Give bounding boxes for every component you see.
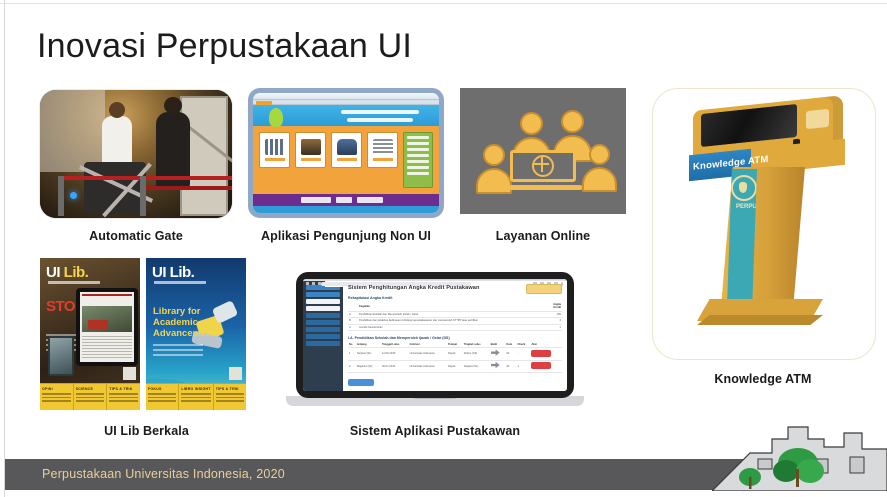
person-head	[589, 144, 610, 165]
cell-jenjang: Sarjana (S1)	[356, 348, 381, 360]
footer-text: Perpustakaan Universitas Indonesia, 2020	[42, 467, 285, 481]
sidebar-item-dashboard[interactable]	[306, 292, 340, 297]
cell-tanggal: 20-07-2014	[381, 360, 409, 372]
magazine-cover-right: UI Lib. Library for Academic Advancement…	[146, 258, 246, 410]
app-tile-document[interactable]	[367, 132, 398, 168]
gate-rope-post-mid	[140, 176, 146, 216]
figure-knowledge-atm: Knowledge ATM PERPUSTAKAAN	[652, 88, 876, 360]
app-tile-person[interactable]	[295, 132, 326, 168]
magazine-edition-right	[154, 281, 206, 284]
app-content: Sistem Penghitungan Angka Kredit Pustaka…	[343, 281, 567, 391]
cell-kum: 60	[505, 348, 516, 360]
app-section2-title: I.A. Pendidikan Sekolah dan Memperoleh I…	[348, 336, 562, 340]
sidebar-item-active-sub[interactable]	[306, 306, 340, 311]
laptop-display: Sistem Penghitungan Angka Kredit Pustaka…	[303, 279, 567, 391]
app-window: Sistem Penghitungan Angka Kredit Pustaka…	[303, 281, 567, 391]
figure-sistem-aplikasi-pustakawan: Sistem Penghitungan Angka Kredit Pustaka…	[286, 272, 584, 412]
rekap-table: Kegiatan Angka Kredit A Pendidikan Sekol…	[348, 302, 562, 331]
sidebar-item-pelatihan[interactable]	[306, 320, 340, 325]
cell-institusi: Universitas Indonesia	[409, 348, 447, 360]
gate-queue-rope	[60, 176, 232, 180]
person-head	[561, 110, 584, 133]
caption-automatic-gate: Automatic Gate	[40, 229, 232, 243]
slide-frame-left-edge	[4, 0, 5, 497]
cell-institusi: Universitas Indonesia	[409, 360, 447, 372]
slide-frame-top-edge	[0, 3, 887, 4]
cell-tanggal: 12-06-2010	[381, 348, 409, 360]
app-button-secondary[interactable]	[336, 197, 352, 203]
tablet-screen	[253, 93, 439, 213]
globe-icon	[532, 155, 554, 177]
laptop-base	[504, 185, 582, 190]
magazine-band-right: FOKUS LIBRO INSIGHT TIPS & TRIK	[146, 383, 246, 410]
cell-tempat: Depok	[447, 360, 463, 372]
app-header-title-line2	[347, 118, 413, 122]
figure-aplikasi-pengunjung	[248, 88, 444, 218]
skyline-decoration	[712, 419, 887, 491]
magazine-band-item: OPINI	[40, 384, 74, 410]
sidebar-item-pengelolaan[interactable]	[306, 327, 340, 332]
app-button-primary[interactable]	[301, 197, 331, 203]
app-info-panel	[403, 132, 433, 188]
caption-ui-lib-berkala: UI Lib Berkala	[40, 424, 253, 438]
sidebar-item-pelayanan[interactable]	[306, 334, 340, 339]
cell-tingkat: Sarjana (S1)	[463, 360, 490, 372]
attachment-icon[interactable]	[491, 362, 500, 370]
page-title: Inovasi Perpustakaan UI	[37, 26, 412, 66]
magazine-logo-badge-left	[123, 367, 136, 380]
cell-no: 2	[348, 360, 356, 372]
pendidikan-table: No Jenjang Tanggal Lulus Institusi Tempa…	[348, 342, 562, 373]
magazine-headline-right: Library for Academic Advancements	[153, 306, 246, 339]
gate-card-reader-light	[70, 192, 77, 199]
app-tile-vehicle[interactable]	[331, 132, 362, 168]
app-body	[253, 126, 439, 194]
cell-aksi	[530, 348, 562, 360]
magazine-band-item: TIPS & TRIK	[107, 384, 140, 410]
magazine-band-left: OPINI SCIENCE TIPS & TRIK	[40, 383, 140, 410]
caption-knowledge-atm: Knowledge ATM	[652, 372, 874, 386]
rekap-cell-kegiatan: Jumlah Keseluruhan	[358, 324, 544, 330]
cell-kum: 40	[505, 360, 516, 372]
app-sidebar	[303, 281, 343, 391]
magazine-logo-badge-right	[229, 367, 242, 380]
rekap-cell-angka: 1	[544, 324, 562, 330]
magazine-band-item: FOKUS	[146, 384, 179, 410]
delete-button[interactable]	[531, 350, 551, 357]
caption-aplikasi-pengunjung: Aplikasi Pengunjung Non UI	[238, 229, 454, 243]
laptop-screen	[510, 150, 576, 182]
add-data-button[interactable]	[348, 379, 374, 386]
magazine-band-item: LIBRO INSIGHT	[179, 384, 213, 410]
app-user-button[interactable]	[526, 284, 562, 294]
rekap-header-angka: Angka Kredit	[544, 302, 562, 311]
person-icon-right	[582, 144, 617, 192]
table-row: 2 Magister (S2) 20-07-2014 Universitas I…	[348, 360, 562, 372]
magazine-deck-right	[153, 344, 203, 359]
library-logo-icon	[731, 175, 757, 201]
window-controls-icon	[306, 282, 322, 285]
app-header-title-line1	[341, 110, 419, 114]
magazine-phone-photo	[48, 336, 74, 376]
app-menu-tiles	[259, 132, 398, 188]
kiosk-base-bottom	[697, 315, 823, 325]
kiosk-teal-strip: PERPUSTAKAAN	[727, 169, 757, 307]
app-tile-books[interactable]	[259, 132, 290, 168]
cell-tingkat: Doktor (S3)	[463, 348, 490, 360]
laptop-icon	[510, 150, 576, 190]
cell-tempat: Depok	[447, 348, 463, 360]
app-section1-title: Rekapitulasi Angka Kredit	[348, 296, 562, 300]
person-body	[476, 168, 512, 194]
magazine-brand-left: UI Lib.	[46, 264, 88, 281]
cell-bukti	[490, 348, 506, 360]
figure-layanan-online	[460, 88, 626, 214]
caption-sistem-aplikasi-pustakawan: Sistem Aplikasi Pustakawan	[286, 424, 584, 438]
app-logo-icon	[269, 108, 283, 127]
magazine-tablet-photo	[76, 288, 138, 366]
app-header	[253, 105, 439, 126]
magazine-band-item: SCIENCE	[74, 384, 108, 410]
sidebar-item-active[interactable]	[306, 299, 340, 304]
cell-bukti	[490, 360, 506, 372]
rekap-header-kegiatan: Kegiatan	[358, 302, 544, 311]
gate-queue-rope-second	[144, 186, 232, 190]
delete-button[interactable]	[531, 362, 551, 369]
cell-check: 1	[516, 360, 530, 372]
sidebar-item-pendidikan[interactable]	[306, 313, 340, 318]
cell-jenjang: Magister (S2)	[356, 360, 381, 372]
cell-aksi	[530, 360, 562, 372]
magazine-edition-left	[48, 281, 100, 284]
kiosk-card-reader	[806, 109, 829, 129]
cell-check: -	[516, 348, 530, 360]
person-head	[520, 112, 543, 135]
gate-wall	[40, 90, 105, 172]
sidebar-item-pengembangan[interactable]	[306, 341, 340, 346]
browser-titlebar	[253, 93, 439, 100]
kiosk-unit: Knowledge ATM PERPUSTAKAAN	[675, 103, 855, 343]
figure-automatic-gate	[40, 90, 232, 218]
app-action-bar	[253, 194, 439, 205]
table-row: 1 Sarjana (S1) 12-06-2010 Universitas In…	[348, 348, 562, 360]
tablet-page	[80, 292, 134, 362]
app-footer	[253, 206, 439, 213]
attachment-icon[interactable]	[491, 349, 500, 357]
magazine-brand-right: UI Lib.	[152, 264, 194, 281]
gate-rope-post-left	[58, 176, 64, 216]
person-body	[582, 167, 617, 192]
app-button-tertiary[interactable]	[357, 197, 383, 203]
slide: Inovasi Perpustakaan UI Automatic Gate	[0, 0, 887, 497]
figure-ui-lib-berkala: UI Lib. STOP ROAD! OPINI SCIENCE TIPS & …	[40, 258, 253, 410]
magazine-cover-left: UI Lib. STOP ROAD! OPINI SCIENCE TIPS & …	[40, 258, 140, 410]
kiosk-vertical-label: PERPUSTAKAAN	[736, 203, 750, 212]
table-header-row: Kegiatan Angka Kredit	[348, 302, 562, 311]
laptop-lid: Sistem Penghitungan Angka Kredit Pustaka…	[296, 272, 574, 398]
person-head	[483, 144, 505, 166]
cell-no: 1	[348, 348, 356, 360]
caption-layanan-online: Layanan Online	[460, 229, 626, 243]
magazine-band-item: TIPS & TRIK	[214, 384, 246, 410]
table-row: C Jumlah Keseluruhan 1	[348, 324, 562, 330]
